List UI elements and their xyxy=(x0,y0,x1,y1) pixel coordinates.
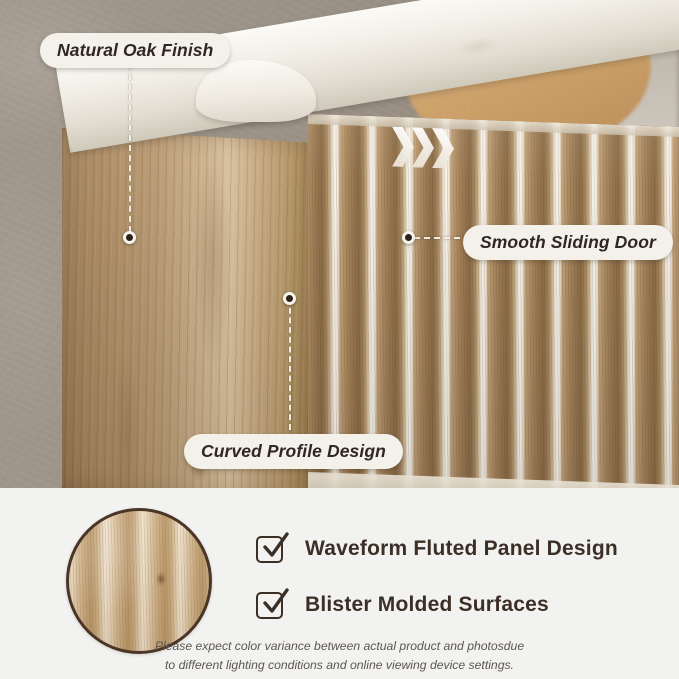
feature-label: Blister Molded Surfaces xyxy=(305,593,549,617)
dot-marker-curved-profile xyxy=(283,292,296,305)
callout-label-natural-oak-finish: Natural Oak Finish xyxy=(40,33,230,68)
disclaimer-text: Please expect color variance between act… xyxy=(0,637,679,675)
dot-marker-sliding-door xyxy=(402,231,415,244)
checkbox-checked-icon xyxy=(256,590,286,620)
callout-label-curved-profile-design: Curved Profile Design xyxy=(184,434,403,469)
sliding-door-fluted-panel xyxy=(308,114,679,488)
leader-line-oak xyxy=(129,64,131,232)
feature-item: Blister Molded Surfaces xyxy=(256,590,549,620)
checkbox-checked-icon xyxy=(256,534,286,564)
feature-item: Waveform Fluted Panel Design xyxy=(256,534,618,564)
callout-label-smooth-sliding-door: Smooth Sliding Door xyxy=(463,225,673,260)
disclaimer-line-2: to different lighting conditions and onl… xyxy=(0,656,679,675)
leader-line-curved-profile xyxy=(289,298,291,430)
product-photo: Natural Oak Finish Smooth Sliding Door C… xyxy=(0,0,679,488)
flute-slats xyxy=(308,114,679,488)
product-feature-image: Natural Oak Finish Smooth Sliding Door C… xyxy=(0,0,679,679)
disclaimer-line-1: Please expect color variance between act… xyxy=(0,637,679,656)
fluted-oak-wood-swatch xyxy=(66,508,212,654)
dot-marker-oak xyxy=(123,231,136,244)
feature-label: Waveform Fluted Panel Design xyxy=(305,537,618,561)
leader-line-sliding-door xyxy=(414,237,460,239)
